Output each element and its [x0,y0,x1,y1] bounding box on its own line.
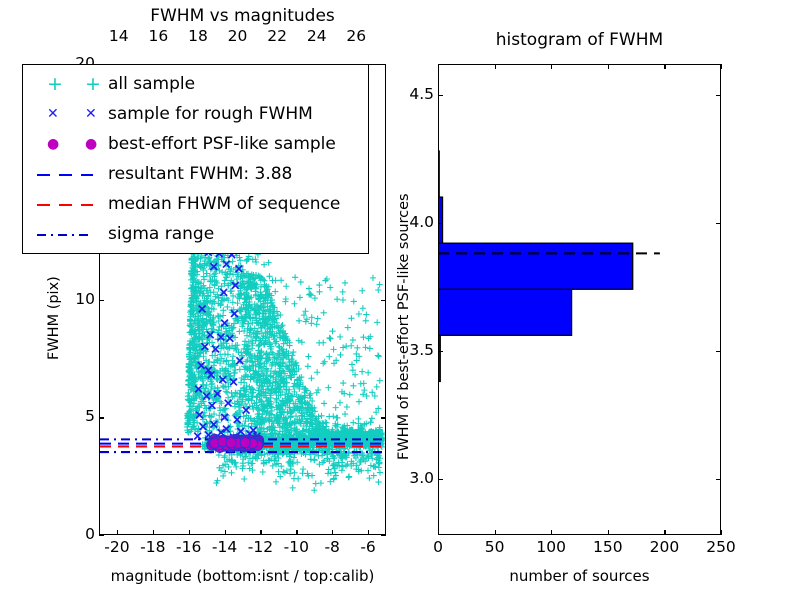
tick-mark [551,530,552,535]
legend-item[interactable]: median FHWM of sequence [23,189,368,219]
legend-item-label: all sample [108,74,195,94]
tick-mark [189,530,190,535]
tick-mark [495,64,496,69]
left-plot-title: FWHM vs magnitudes [99,6,386,26]
ytick-label: 4.0 [392,213,434,231]
tick-mark [438,530,439,535]
tick-mark [664,530,665,535]
xtick-label-top: 16 [136,27,180,45]
tick-mark [332,530,333,535]
xtick-label: 250 [699,538,743,556]
tick-mark [368,530,369,535]
xtick-label-top: 20 [216,27,260,45]
tick-mark [99,300,104,301]
tick-mark [438,351,443,352]
tick-mark [716,479,721,480]
tick-mark [381,64,386,65]
tick-mark [296,530,297,535]
tick-mark [381,535,386,536]
tick-mark [495,530,496,535]
tick-mark [438,64,439,69]
xtick-label-top: 22 [255,27,299,45]
legend-item[interactable]: ++all sample [23,69,368,99]
xtick-label: 100 [529,538,573,556]
ytick-label: 4.5 [392,85,434,103]
tick-mark [99,535,104,536]
tick-mark [721,64,722,69]
tick-mark [99,417,104,418]
tick-mark [438,479,443,480]
xtick-label: 200 [642,538,686,556]
ytick-label: 0 [53,525,95,543]
xtick-label-top: 24 [295,27,339,45]
legend-item[interactable]: resultant FWHM: 3.88 [23,159,368,189]
tick-mark [608,64,609,69]
tick-mark [438,223,443,224]
xtick-label-top: 26 [334,27,378,45]
legend-item-label: best-effort PSF-like sample [108,134,336,154]
xtick-label-top: 18 [176,27,220,45]
right-plot-title: histogram of FWHM [438,30,721,50]
tick-mark [608,530,609,535]
plot-legend[interactable]: ++all sample✕✕sample for rough FWHM●●bes… [22,64,369,254]
tick-mark [381,300,386,301]
legend-item-label: resultant FWHM: 3.88 [108,164,292,184]
xtick-label: 150 [586,538,630,556]
tick-mark [153,530,154,535]
legend-cross-icon: ✕ [85,107,97,121]
tick-mark [664,64,665,69]
legend-item[interactable]: sigma range [23,219,368,249]
tick-mark [381,417,386,418]
legend-item-label: median FHWM of sequence [108,194,340,214]
ytick-label: 5 [53,407,95,425]
legend-circle-icon: ● [47,137,59,151]
right-plot-xlabel: number of sources [438,567,721,585]
tick-mark [551,64,552,69]
legend-dashdot-line-icon [37,234,93,236]
tick-mark [438,95,443,96]
legend-item[interactable]: ●●best-effort PSF-like sample [23,129,368,159]
figure-canvas: FWHM vs magnitudes magnitude (bottom:isn… [0,0,800,600]
xtick-label-top: 14 [97,27,141,45]
legend-circle-icon: ● [85,137,97,151]
tick-mark [117,530,118,535]
tick-mark [716,95,721,96]
right-plot-ylabel: FWHM of best-effort PSF-like sources [396,193,412,460]
tick-mark [716,223,721,224]
legend-plus-icon: + [85,75,101,94]
tick-mark [716,351,721,352]
legend-item-label: sigma range [108,224,214,244]
legend-dashed-line-icon [37,174,93,176]
tick-mark [721,530,722,535]
xtick-label: 0 [416,538,460,556]
legend-dashed-line-icon [37,204,93,206]
legend-cross-icon: ✕ [47,107,59,121]
legend-item-label: sample for rough FWHM [108,104,313,124]
legend-item[interactable]: ✕✕sample for rough FWHM [23,99,368,129]
ytick-label: 3.0 [392,469,434,487]
right-plot-axes [438,64,721,535]
legend-plus-icon: + [47,75,63,94]
xtick-label-bottom: -6 [346,538,390,556]
xtick-label: 50 [473,538,517,556]
tick-mark [225,530,226,535]
ytick-label: 3.5 [392,341,434,359]
tick-mark [260,530,261,535]
ytick-label: 10 [53,290,95,308]
left-plot-xlabel: magnitude (bottom:isnt / top:calib) [99,567,386,585]
